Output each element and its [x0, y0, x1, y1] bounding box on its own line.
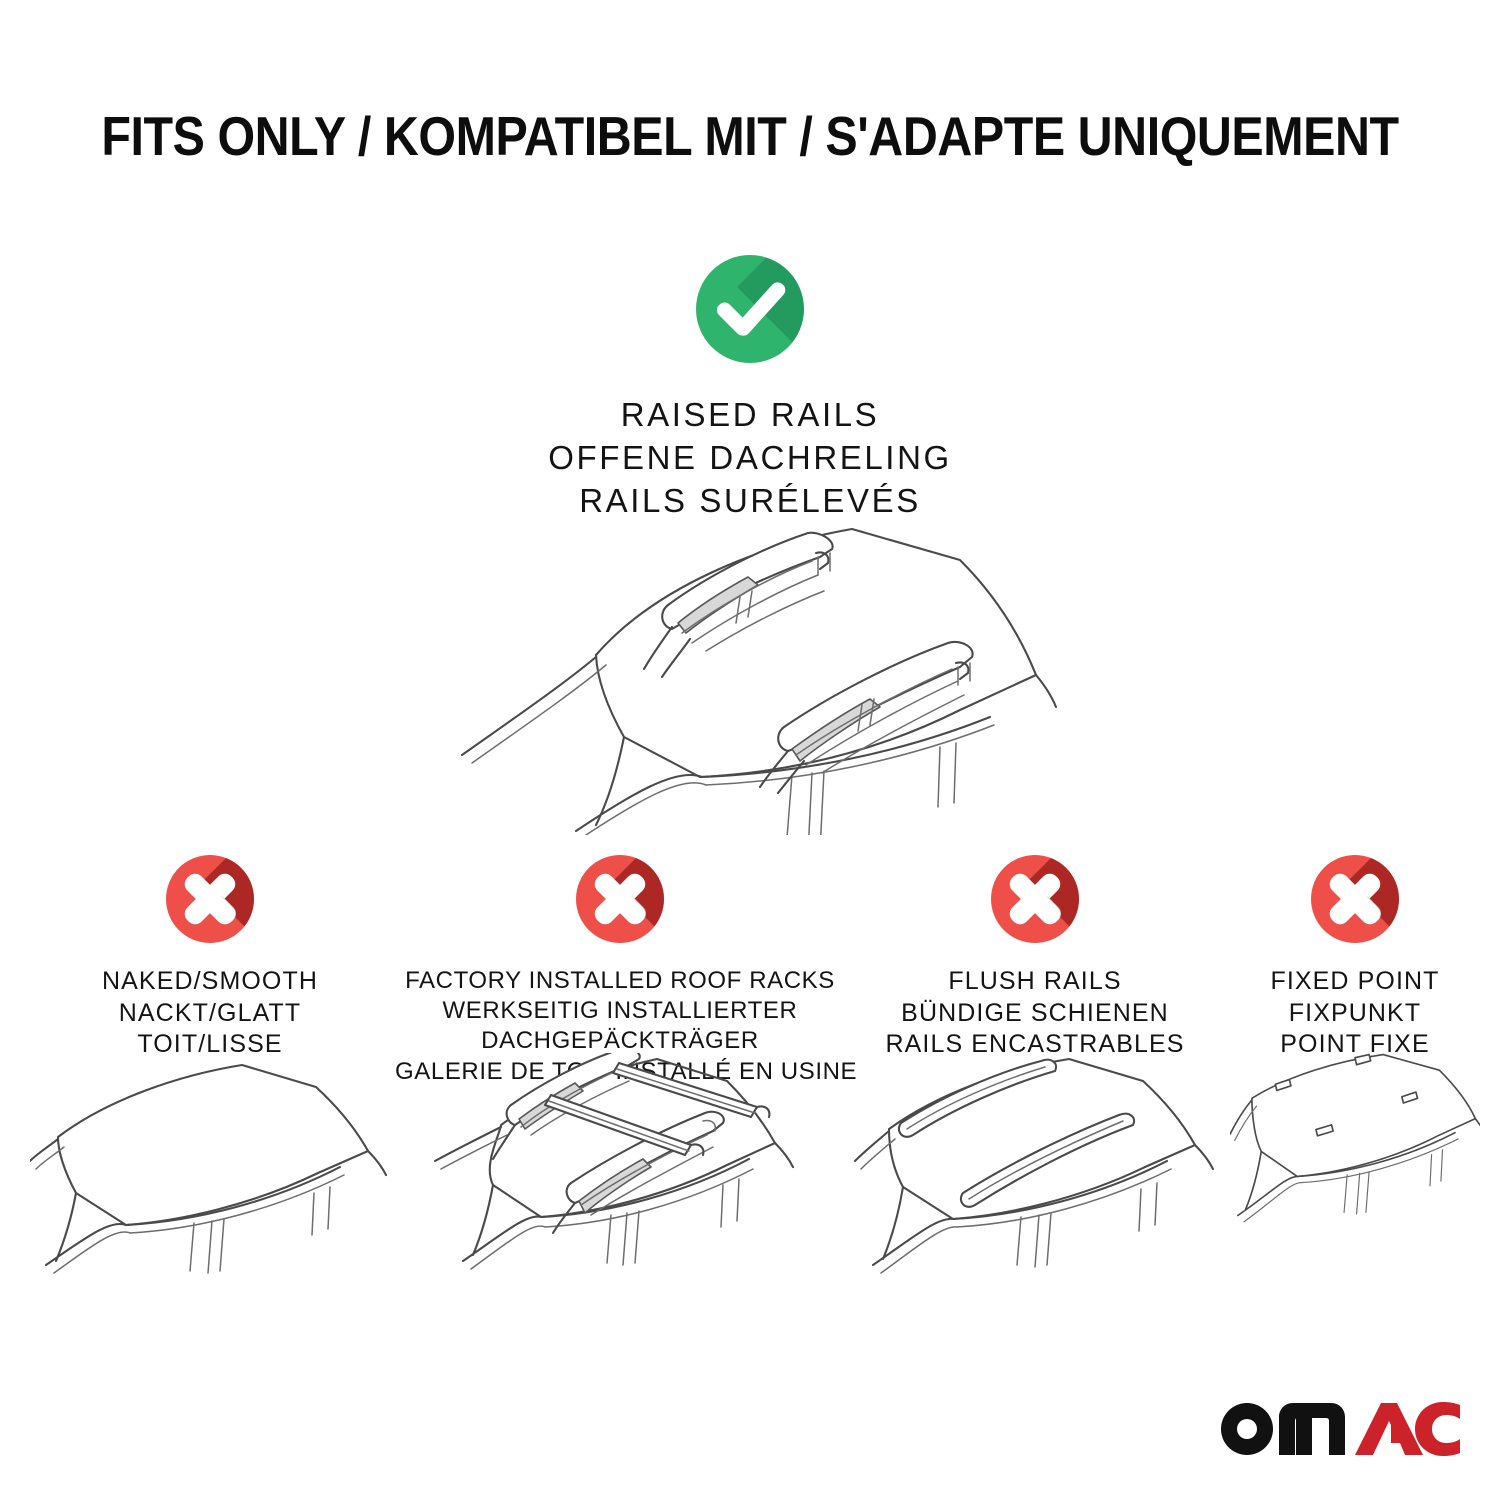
- variant-label-en: FACTORY INSTALLED ROOF RACKS: [395, 966, 845, 996]
- x-circle-icon: [576, 855, 664, 943]
- x-circle-icon: [1311, 855, 1399, 943]
- x-circle-icon: [166, 855, 254, 943]
- x-circle-icon: [991, 855, 1079, 943]
- compatible-label-en: RAISED RAILS: [0, 394, 1500, 437]
- variant-labels: NAKED/SMOOTH NACKT/GLATT TOIT/LISSE: [30, 966, 390, 1061]
- check-circle-icon: [696, 255, 804, 363]
- variant-factory-roof-racks: FACTORY INSTALLED ROOF RACKS WERKSEITIG …: [395, 855, 845, 1065]
- variant-labels: FIXED POINT FIXPUNKT POINT FIXE: [1230, 966, 1480, 1061]
- factory-roof-racks-illustration: [395, 1053, 845, 1283]
- compatible-section: RAISED RAILS OFFENE DACHRELING RAILS SUR…: [0, 255, 1500, 523]
- logo-letter-m: [1279, 1403, 1345, 1455]
- variant-labels: FLUSH RAILS BÜNDIGE SCHIENEN RAILS ENCAS…: [850, 966, 1220, 1061]
- incompatible-section: NAKED/SMOOTH NACKT/GLATT TOIT/LISSE: [0, 855, 1500, 1295]
- flush-rails-illustration: [850, 1053, 1220, 1283]
- variant-label-de: FIXPUNKT: [1230, 998, 1480, 1030]
- check-mark-glyph: [696, 255, 804, 363]
- variant-fixed-point: FIXED POINT FIXPUNKT POINT FIXE: [1230, 855, 1480, 1065]
- logo-letter-a: [1355, 1403, 1423, 1455]
- variant-label-en: FLUSH RAILS: [850, 966, 1220, 998]
- variant-label-de: NACKT/GLATT: [30, 998, 390, 1030]
- omac-logo: [1215, 1397, 1460, 1465]
- variant-label-en: NAKED/SMOOTH: [30, 966, 390, 998]
- page-title: FITS ONLY / KOMPATIBEL MIT / S'ADAPTE UN…: [90, 104, 1410, 168]
- naked-smooth-roof-illustration: [30, 1053, 390, 1283]
- logo-letter-o: [1221, 1403, 1273, 1455]
- compatible-labels: RAISED RAILS OFFENE DACHRELING RAILS SUR…: [0, 394, 1500, 523]
- variant-label-de-1: WERKSEITIG INSTALLIERTER: [395, 996, 845, 1026]
- variant-label-de: BÜNDIGE SCHIENEN: [850, 998, 1220, 1030]
- variant-flush-rails: FLUSH RAILS BÜNDIGE SCHIENEN RAILS ENCAS…: [850, 855, 1220, 1065]
- raised-rails-roof-illustration: [400, 505, 1100, 835]
- compatible-label-de: OFFENE DACHRELING: [0, 437, 1500, 480]
- variant-label-en: FIXED POINT: [1230, 966, 1480, 998]
- fixed-point-roof-illustration: [1230, 1053, 1480, 1283]
- variant-naked-smooth: NAKED/SMOOTH NACKT/GLATT TOIT/LISSE: [30, 855, 390, 1065]
- logo-letter-c: [1415, 1402, 1460, 1456]
